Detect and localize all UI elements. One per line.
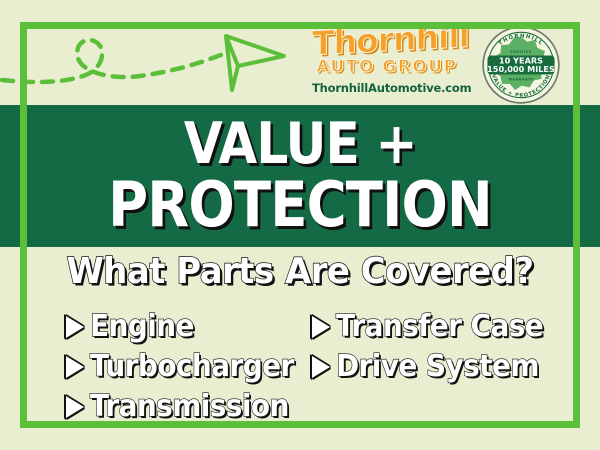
triangle-bullet-icon (66, 356, 84, 378)
list-item-label: Drive System (336, 350, 539, 384)
list-item-label: Engine (90, 310, 194, 344)
triangle-bullet-icon (66, 316, 84, 338)
seal-small-bottom: WARRANTY (508, 77, 533, 81)
list-item: Turbocharger (66, 347, 316, 387)
brand-website: ThornhillAutomotive.com (312, 81, 462, 95)
list-item: Engine (66, 307, 316, 347)
brand-name: Thornhill (312, 20, 462, 60)
header-zone: Thornhill AUTO GROUP ThornhillAutomotive… (0, 0, 600, 105)
seal-small-top: POSITIVE (510, 50, 531, 54)
list-item-label: Transmission (90, 390, 289, 424)
covered-parts-left-column: Engine Turbocharger Transmission (66, 307, 316, 427)
subheading: What Parts Are Covered? (18, 251, 582, 293)
brand-logo[interactable]: Thornhill AUTO GROUP ThornhillAutomotive… (312, 24, 462, 95)
warranty-seal-icon: THORNHILL VALUE + PROTECTION POSITIVE 10… (478, 22, 564, 108)
triangle-bullet-icon (312, 356, 330, 378)
seal-miles: 150,000 MILES (487, 64, 555, 74)
content-zone: What Parts Are Covered? Engine Turbochar… (0, 247, 600, 450)
triangle-bullet-icon (66, 396, 84, 418)
ad-banner: Thornhill AUTO GROUP ThornhillAutomotive… (0, 0, 600, 450)
dashed-flight-path-icon (0, 18, 300, 98)
list-item-label: Transfer Case (336, 310, 543, 344)
triangle-bullet-icon (312, 316, 330, 338)
list-item: Transfer Case (312, 307, 562, 347)
list-item-label: Turbocharger (90, 350, 294, 384)
list-item: Transmission (66, 387, 316, 427)
covered-parts-right-column: Transfer Case Drive System (312, 307, 562, 387)
headline-band (0, 105, 600, 247)
list-item: Drive System (312, 347, 562, 387)
